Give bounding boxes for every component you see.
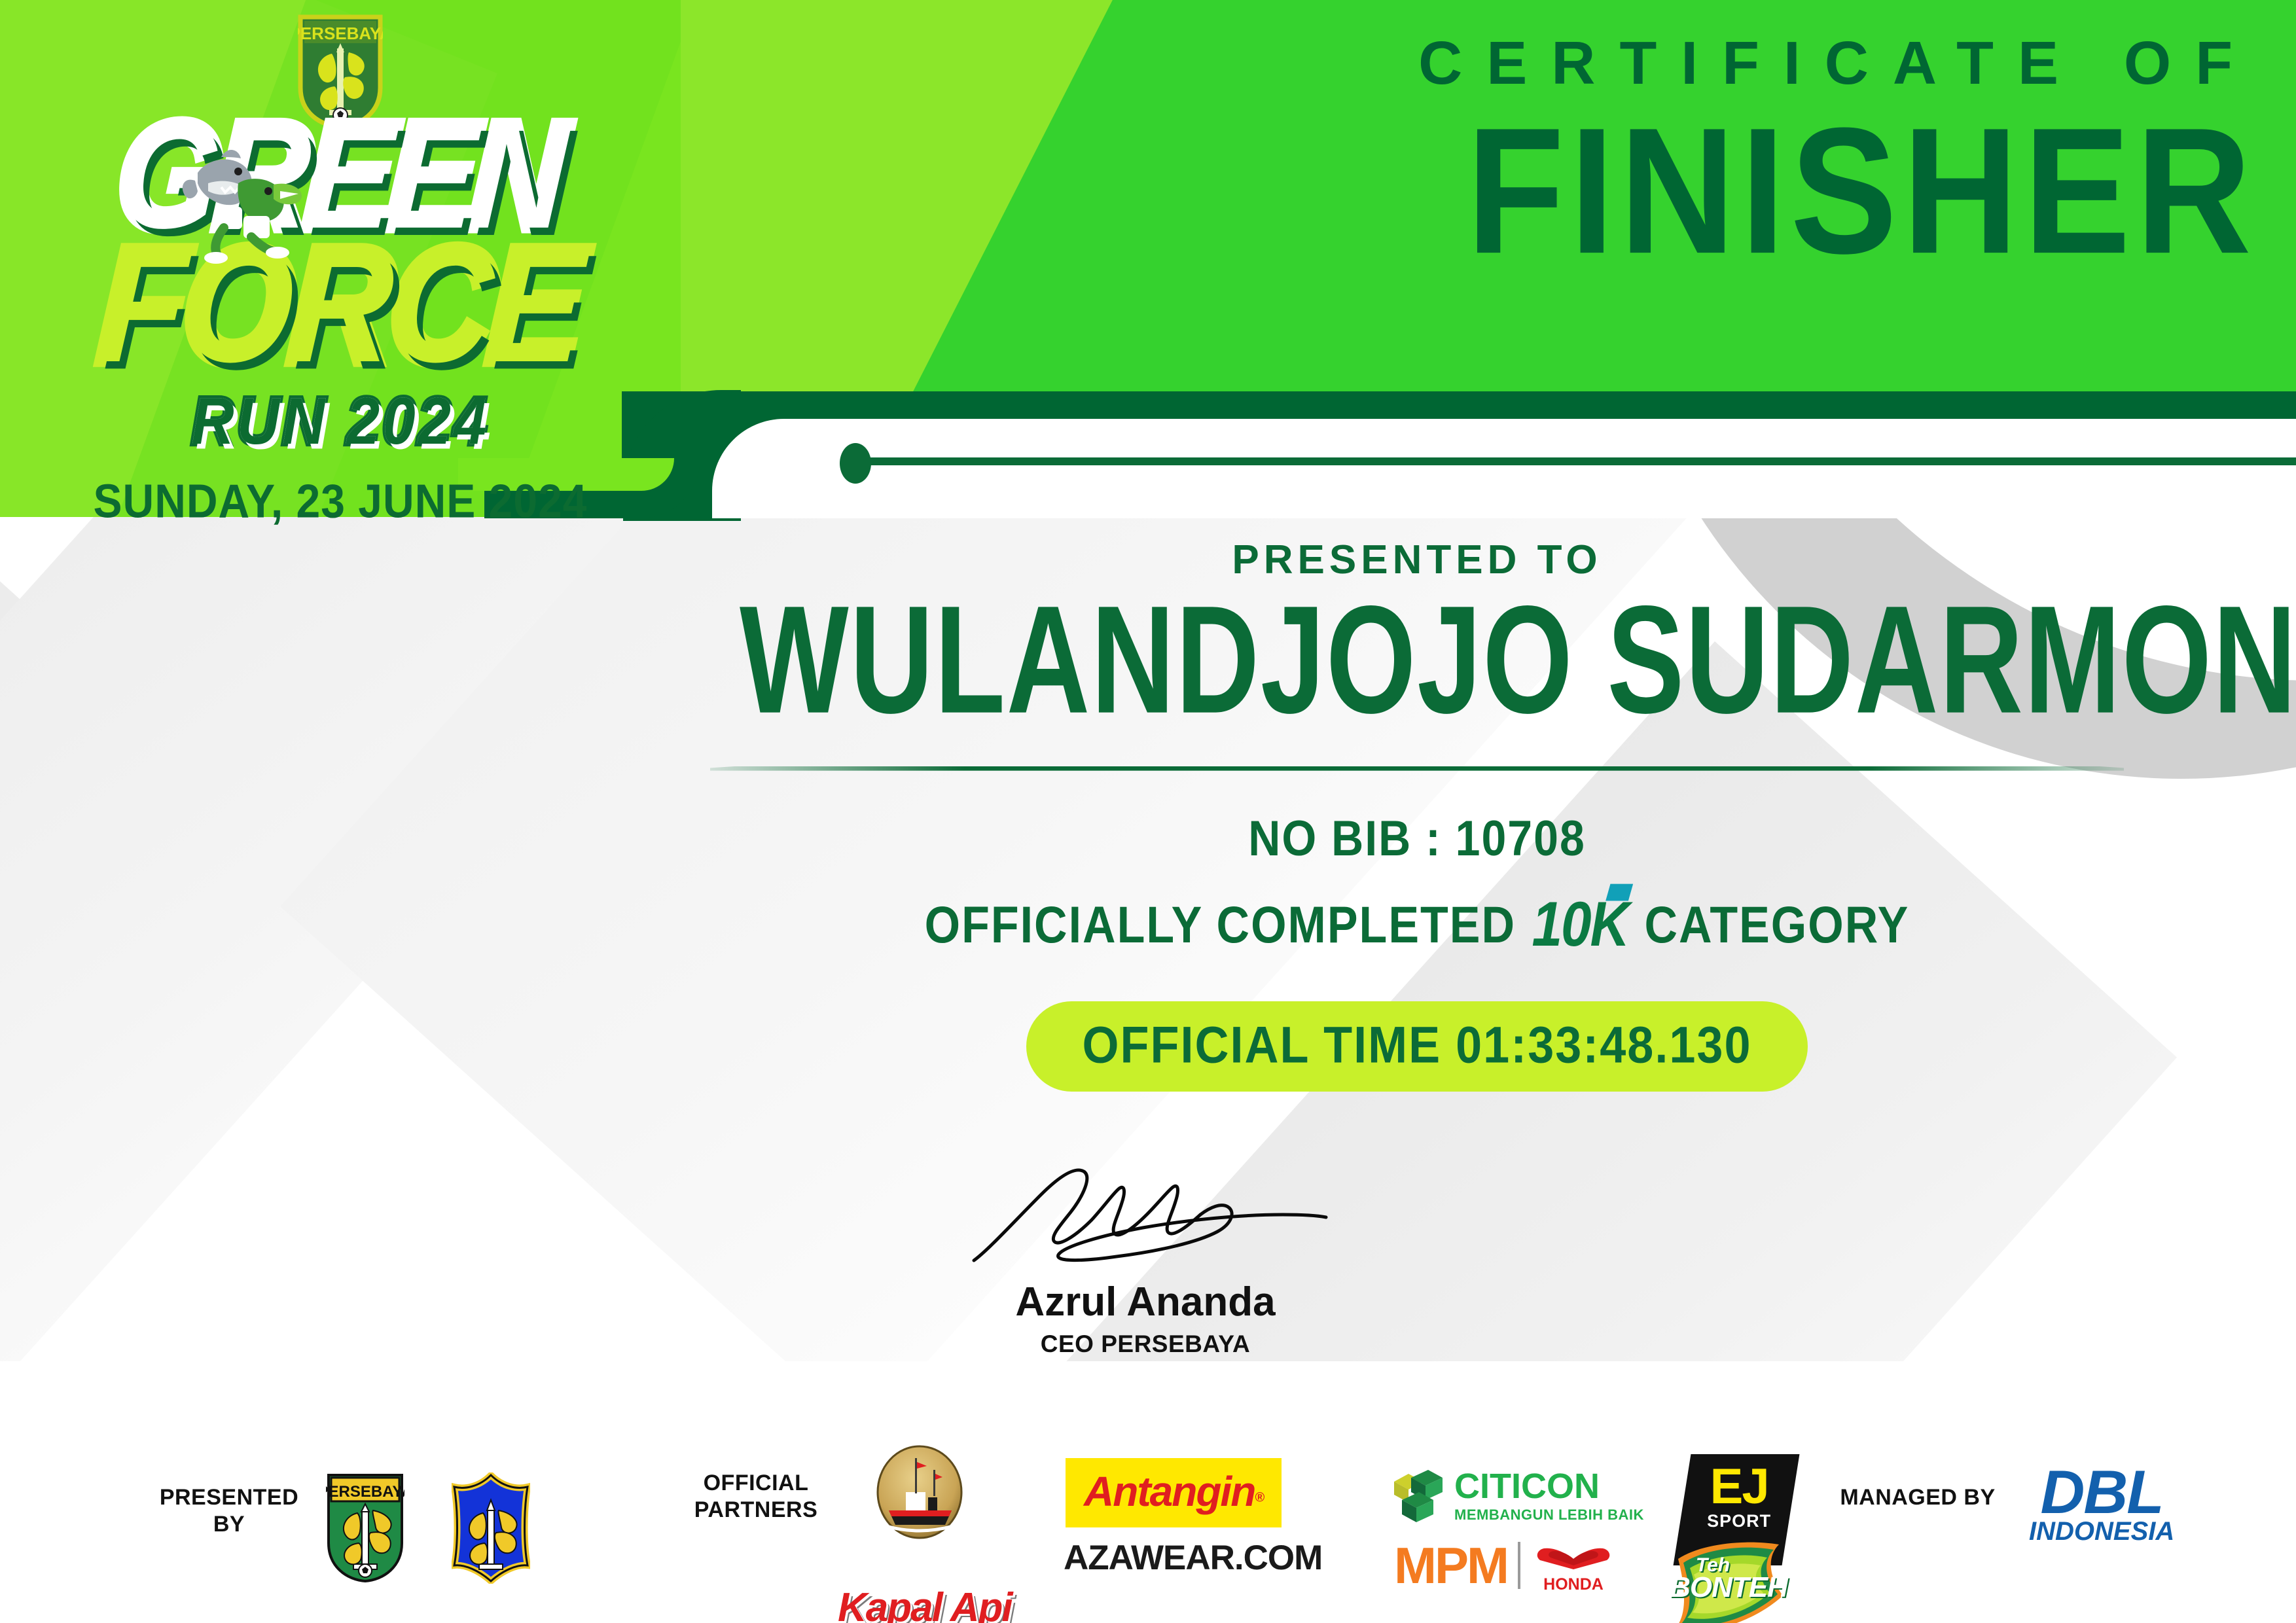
category-suffix-label: CATEGORY <box>1644 895 1909 954</box>
frame-inner-white <box>712 419 2296 518</box>
signatory-name: Azrul Ananda <box>936 1279 1355 1325</box>
honda-wordmark: HONDA <box>1531 1575 1616 1594</box>
teal-accent-mark <box>1606 883 1634 901</box>
handwritten-signature-icon <box>936 1152 1355 1276</box>
green-force-run-logo: GREEN FORCE RUN 2024 SUNDAY, 23 JUNE 202… <box>26 128 655 526</box>
svg-text:PERSEBAYA: PERSEBAYA <box>326 1483 404 1501</box>
bonteh-wordmark: BONTEH <box>1668 1574 1789 1601</box>
official-time-pill: OFFICIAL TIME 01:33:48.130 <box>1026 1001 1808 1092</box>
sponsor-logo-azawear: AZAWEAR.COM <box>1064 1538 1322 1578</box>
managed-by-label: MANAGED BY <box>1833 1484 2003 1511</box>
antangin-yellow-box: Antangin® <box>1066 1458 1282 1527</box>
divider-line <box>867 457 2296 465</box>
dbl-indonesia-label: INDONESIA <box>2029 1518 2174 1544</box>
event-date: SUNDAY, 23 JUNE 2024 <box>26 473 655 528</box>
sponsor-logo-citicon: CITICON MEMBANGUN LEBIH BAIK <box>1389 1466 1644 1527</box>
shark-crocodile-mascot-icon <box>175 143 306 267</box>
sponsor-logo-surabaya <box>452 1472 530 1587</box>
official-partners-label: OFFICIAL PARTNERS <box>681 1470 831 1524</box>
vertical-divider <box>1518 1542 1520 1589</box>
logo-line-force: FORCE <box>0 239 684 373</box>
citicon-tagline: MEMBANGUN LEBIH BAIK <box>1454 1507 1644 1524</box>
citicon-wordmark: CITICON <box>1454 1470 1644 1503</box>
category-10k-badge: 10K <box>1532 888 1628 961</box>
certificate-title-block: CERTIFICATE OF FINISHER <box>1418 33 2257 258</box>
certificate-page: PERSEBAYA GREEN FORCE RUN 2024 SUNDAY, 2… <box>0 0 2296 1623</box>
honda-wing-icon <box>1531 1537 1616 1572</box>
divider-dot <box>840 443 871 484</box>
dbl-wordmark: DBL <box>2029 1466 2174 1518</box>
sponsor-logo-antangin: Antangin® <box>1066 1458 1282 1527</box>
svg-text:PERSEBAYA: PERSEBAYA <box>298 24 383 43</box>
antangin-wordmark: Antangin <box>1084 1468 1255 1515</box>
bib-number-line: NO BIB : 10708 <box>681 810 2153 866</box>
certificate-body: PRESENTED TO WULANDJOJO SUDARMONO NO BIB… <box>681 517 2153 1092</box>
citicon-cube-icon <box>1389 1466 1445 1527</box>
category-line: OFFICIALLY COMPLETED 10K CATEGORY <box>681 890 2153 959</box>
sponsor-logo-kapal-api: Kapal Api Jelas lebih enak <box>838 1445 1012 1623</box>
footer-sponsor-bar: PRESENTED BY PERSEBAYA <box>0 1361 2296 1623</box>
signature-block: Azrul Ananda CEO PERSEBAYA <box>936 1152 1355 1358</box>
certificate-of-label: CERTIFICATE OF <box>1418 33 2257 94</box>
official-time-text: OFFICIAL TIME 01:33:48.130 <box>1083 1015 1752 1074</box>
sponsor-logo-dbl-indonesia: DBL INDONESIA <box>2029 1466 2174 1544</box>
azawear-wordmark: AZAWEAR.COM <box>1064 1538 1322 1578</box>
signatory-role: CEO PERSEBAYA <box>936 1330 1355 1358</box>
name-underline-rule <box>710 766 2124 771</box>
ej-sport-label: SPORT <box>1685 1511 1793 1531</box>
recipient-name: WULANDJOJO SUDARMONO <box>740 579 2094 740</box>
registered-mark-icon: ® <box>1255 1491 1263 1505</box>
finisher-title: FINISHER <box>1418 105 2257 276</box>
ej-wordmark: EJ <box>1685 1466 1793 1508</box>
presented-by-label: PRESENTED BY <box>151 1484 308 1539</box>
logo-line-run-2024: RUN 2024 <box>10 388 670 454</box>
sponsor-logo-mpm-honda: MPM HONDA <box>1394 1537 1616 1594</box>
sponsor-logo-persebaya: PERSEBAYA <box>326 1472 404 1587</box>
mpm-wordmark: MPM <box>1394 1545 1507 1586</box>
category-prefix-label: OFFICIALLY COMPLETED <box>925 895 1516 954</box>
kapal-api-wordmark: Kapal Api <box>838 1584 1012 1623</box>
sponsor-logo-teh-bonteh: Teh BONTEH <box>1668 1539 1789 1623</box>
